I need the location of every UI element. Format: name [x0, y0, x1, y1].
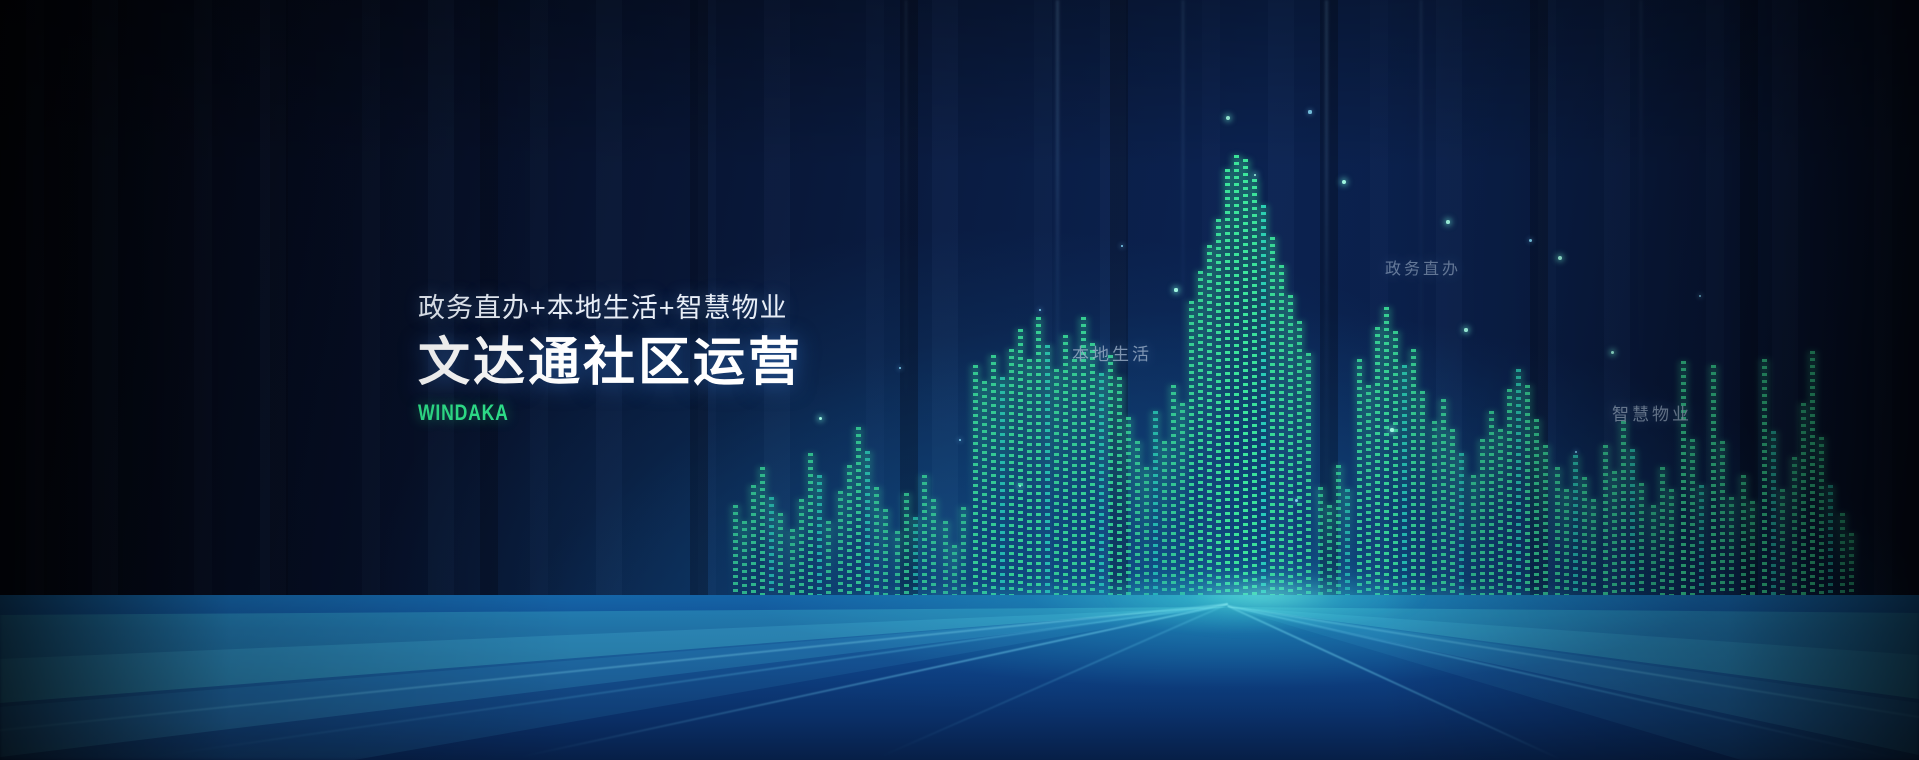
perspective-ground — [0, 595, 1919, 760]
glow-particle — [1295, 499, 1298, 502]
hero-subtitle: 政务直办+本地生活+智慧物业 — [418, 292, 803, 324]
skyline-column — [1252, 179, 1257, 617]
hero-copy-block: 政务直办+本地生活+智慧物业 文达通社区运营 WINDAKA — [418, 292, 803, 426]
floating-label-3: 智慧物业 — [1612, 400, 1692, 425]
glow-particle — [1529, 239, 1532, 242]
skyline-column — [1243, 159, 1248, 617]
brand-wordmark: WINDAKA — [418, 400, 726, 426]
glow-particle — [1446, 220, 1450, 224]
glow-particle — [1611, 351, 1614, 354]
glow-particle — [1558, 256, 1562, 260]
floating-label-2: 本地生活 — [1072, 340, 1152, 365]
glow-particle — [1226, 116, 1230, 120]
glow-particle — [819, 417, 822, 420]
dotted-skyline-chart — [0, 57, 1919, 617]
hero-banner: 政务直办本地生活智慧物业 政务直办+本地生活+智慧物业 文达通社区运营 WIND… — [0, 0, 1919, 760]
glow-particle — [1174, 288, 1177, 291]
skyline-column — [1216, 219, 1221, 617]
skyline-column — [1225, 169, 1230, 617]
vanishing-point-glow — [1105, 560, 1425, 630]
hero-headline: 文达通社区运营 — [418, 334, 803, 394]
floating-label-1: 政务直办 — [1385, 255, 1461, 279]
skyline-column — [1261, 205, 1266, 617]
glow-particle — [1464, 328, 1467, 331]
glow-particle — [1308, 110, 1311, 113]
skyline-column — [1234, 155, 1239, 617]
perspective-ray — [150, 603, 1228, 758]
glow-particle — [1390, 428, 1393, 431]
